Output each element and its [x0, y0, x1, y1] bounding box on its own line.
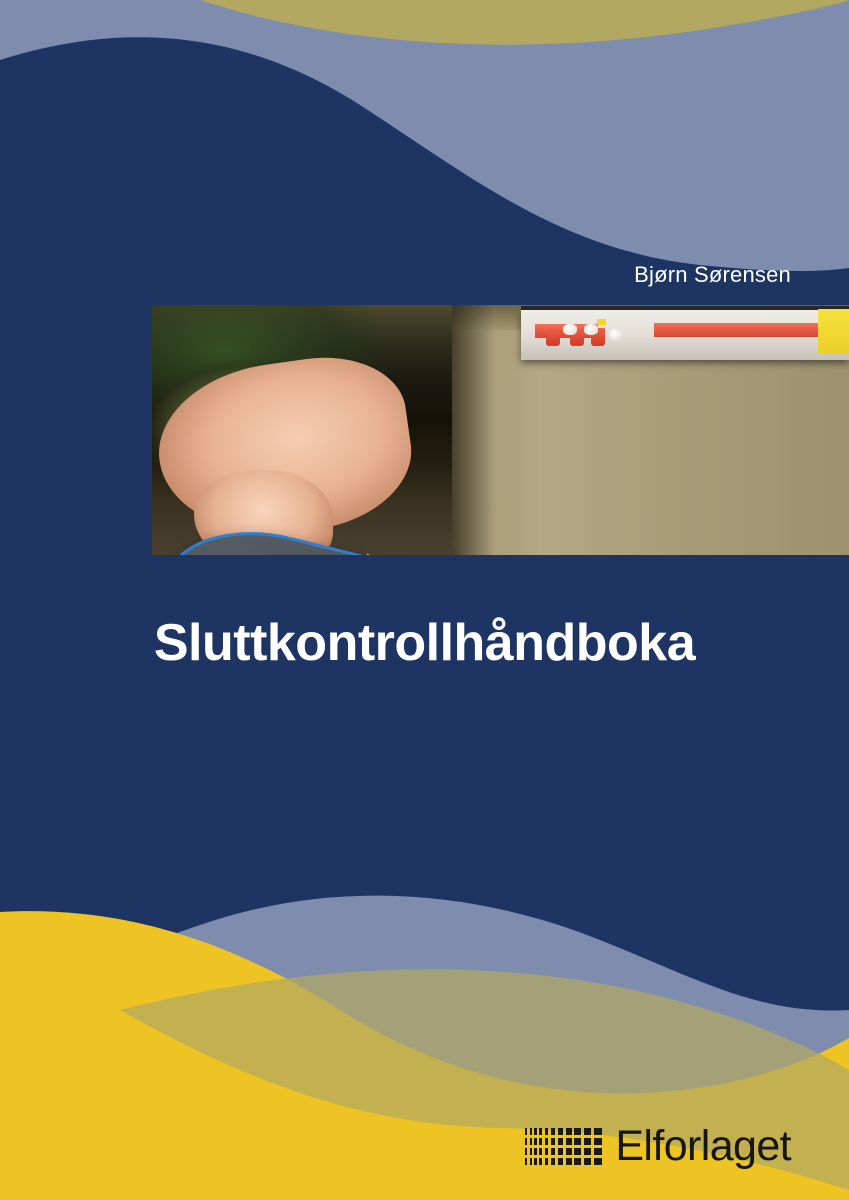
logo-dot	[558, 1138, 563, 1145]
logo-dot	[566, 1148, 572, 1155]
logo-dot-row	[525, 1138, 602, 1145]
logo-dot	[530, 1128, 532, 1135]
logo-dot	[545, 1148, 549, 1155]
publisher-name: Elforlaget	[615, 1125, 791, 1168]
logo-dot	[594, 1158, 602, 1165]
logo-dot	[525, 1148, 527, 1155]
logo-dot	[584, 1138, 592, 1145]
book-cover: Bjørn Sørensen	[0, 0, 849, 1200]
logo-dot	[566, 1158, 572, 1165]
logo-dot-row	[525, 1128, 602, 1135]
logo-dot	[594, 1138, 602, 1145]
author-name: Bjørn Sørensen	[634, 262, 791, 288]
logo-dot-row	[525, 1158, 602, 1165]
logo-dot	[551, 1158, 555, 1165]
publisher-logo: Elforlaget	[525, 1125, 791, 1168]
photo-indicator-yellow	[597, 319, 607, 326]
photo-rcd-1	[546, 328, 560, 347]
logo-dot	[584, 1128, 592, 1135]
logo-dot-row	[525, 1148, 602, 1155]
logo-dot	[539, 1128, 542, 1135]
logo-dot	[545, 1138, 549, 1145]
logo-dot	[534, 1148, 536, 1155]
logo-dot	[584, 1148, 592, 1155]
photo-cabinet-shadow	[452, 305, 494, 555]
logo-dot	[558, 1148, 563, 1155]
logo-dot	[558, 1158, 563, 1165]
logo-dot	[558, 1128, 563, 1135]
logo-dot	[551, 1128, 555, 1135]
photo-yellow-label	[818, 309, 849, 354]
logo-dot	[525, 1128, 527, 1135]
logo-dot	[574, 1158, 581, 1165]
logo-dot	[534, 1128, 536, 1135]
logo-dot	[525, 1138, 527, 1145]
logo-dot	[539, 1148, 542, 1155]
logo-dot	[545, 1158, 549, 1165]
logo-dot	[539, 1158, 542, 1165]
background-waves	[0, 0, 849, 1200]
logo-dot	[584, 1158, 592, 1165]
logo-dot	[574, 1128, 581, 1135]
photo-knob-3	[609, 329, 623, 341]
logo-dot	[539, 1138, 542, 1145]
logo-dot	[534, 1158, 536, 1165]
photo-knob-1	[563, 324, 577, 336]
page-title: Sluttkontrollhåndboka	[0, 613, 849, 673]
logo-dot	[534, 1138, 536, 1145]
logo-dot	[551, 1138, 555, 1145]
logo-dot	[530, 1138, 532, 1145]
logo-dot	[566, 1128, 572, 1135]
logo-dot	[525, 1158, 527, 1165]
logo-dot	[594, 1128, 602, 1135]
logo-dot	[530, 1148, 532, 1155]
photo-breaker-row-red	[654, 323, 835, 337]
logo-dot-matrix-icon	[525, 1128, 602, 1165]
logo-dot	[594, 1148, 602, 1155]
logo-dot	[530, 1158, 532, 1165]
logo-dot	[566, 1138, 572, 1145]
cover-photo: CE INSTALLASJONSTESTER EuroMaster AutoEv…	[152, 305, 849, 555]
logo-dot	[574, 1138, 581, 1145]
photo-knob-2	[584, 324, 598, 336]
logo-dot	[574, 1148, 581, 1155]
logo-dot	[545, 1128, 549, 1135]
logo-dot	[551, 1148, 555, 1155]
